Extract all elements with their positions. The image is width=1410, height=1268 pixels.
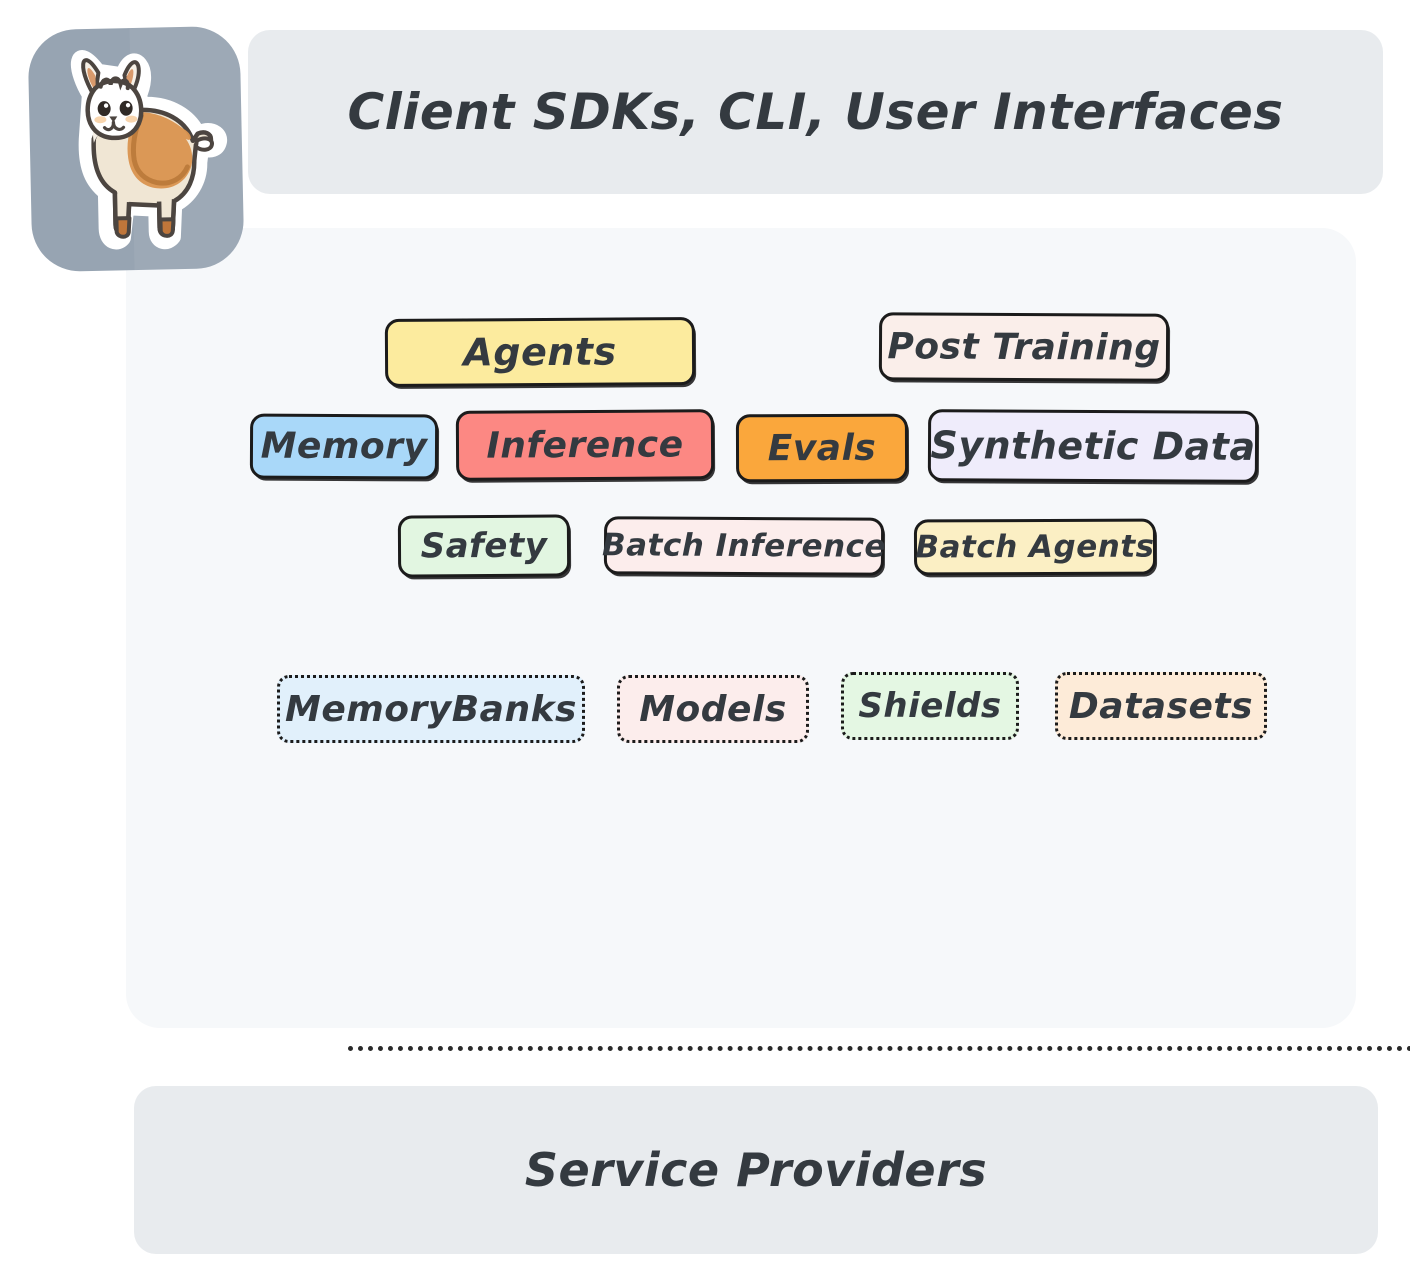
api-box-post-training[interactable]: Post Training [879,312,1169,382]
api-box-evals[interactable]: Evals [736,414,908,483]
api-box-label: Memory [261,426,428,468]
api-box-batch-agents[interactable]: Batch Agents [914,519,1156,576]
api-box-label: Synthetic Data [930,423,1255,469]
section-divider [348,1046,1410,1051]
llama-logo-icon [40,40,234,260]
footer-title: Service Providers [525,1143,987,1197]
api-box-label: Batch Agents [915,529,1154,566]
client-interfaces-bar: Client SDKs, CLI, User Interfaces [248,30,1383,194]
api-box-safety[interactable]: Safety [398,514,570,577]
api-box-synthetic-data[interactable]: Synthetic Data [928,409,1258,483]
api-box-label: Agents [463,330,616,375]
resource-box-shields[interactable]: Shields [841,672,1019,740]
resource-box-label: Models [639,689,787,730]
resource-box-datasets[interactable]: Datasets [1055,672,1267,740]
llama-logo-tile [27,26,244,272]
api-box-label: Batch Inference [602,527,886,564]
api-box-label: Inference [486,424,683,466]
api-box-label: Safety [421,526,548,567]
api-box-batch-inference[interactable]: Batch Inference [604,516,884,575]
api-box-label: Post Training [887,326,1160,368]
llama-stack-api-panel: AgentsPost TrainingMemoryInferenceEvalsS… [126,228,1356,1028]
api-box-agents[interactable]: Agents [385,317,695,387]
resource-box-memorybanks[interactable]: MemoryBanks [277,675,585,743]
api-box-label: Evals [768,427,877,468]
api-box-memory[interactable]: Memory [250,414,438,480]
service-providers-bar: Service Providers [134,1086,1378,1254]
resource-box-label: Shields [858,686,1001,726]
header-title: Client SDKs, CLI, User Interfaces [347,83,1283,141]
resource-box-models[interactable]: Models [617,675,809,743]
resource-box-label: Datasets [1069,686,1253,727]
resource-box-label: MemoryBanks [285,689,577,730]
api-box-inference[interactable]: Inference [456,409,714,481]
